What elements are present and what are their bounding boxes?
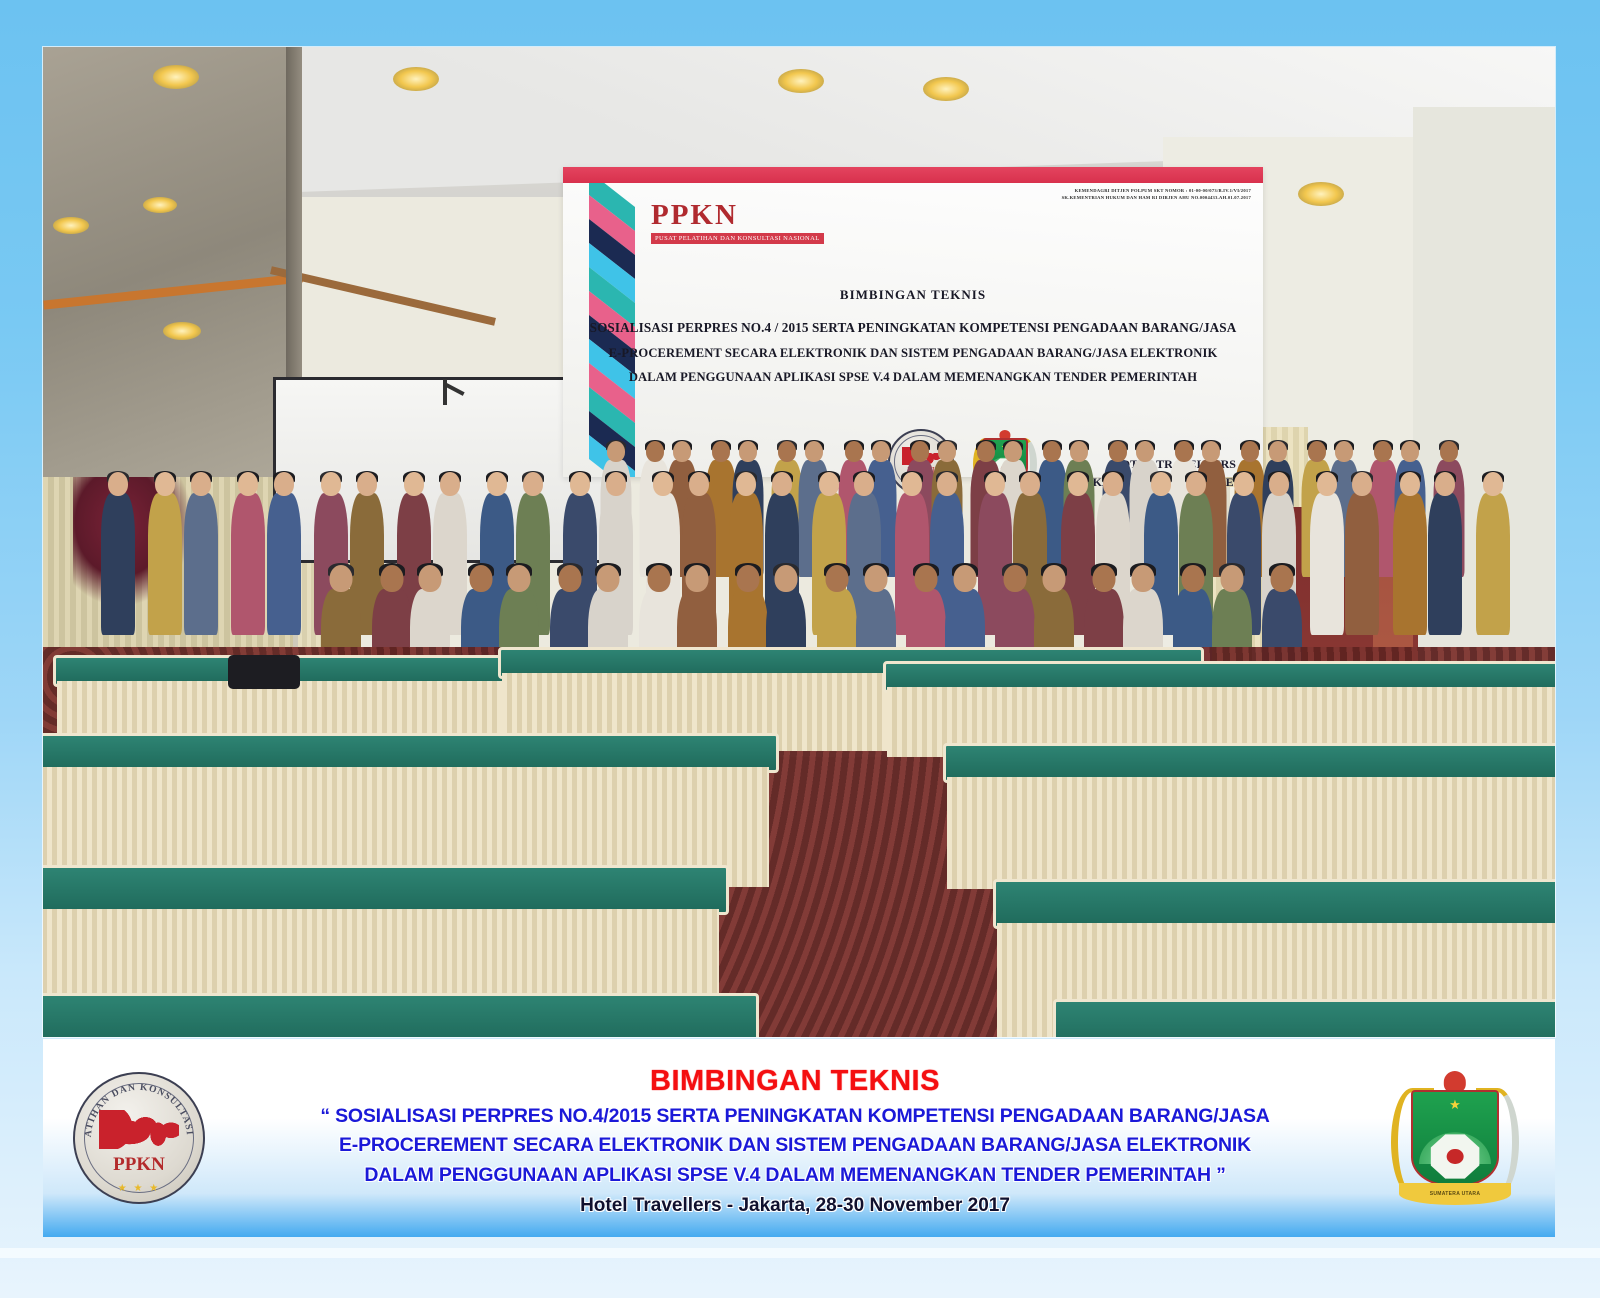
participant-head (985, 472, 1005, 496)
participant-head (736, 565, 759, 592)
participant-head (440, 472, 460, 496)
participant-head (523, 472, 543, 496)
participant-head (825, 565, 848, 592)
participant-head (1092, 565, 1115, 592)
participant-head (819, 472, 839, 496)
participant-head (418, 565, 441, 592)
participant-head (329, 565, 352, 592)
banner-line-1: SOSIALISASI PERPRES NO.4 / 2015 SERTA PE… (563, 315, 1263, 341)
ppkn-seal-icon: PUSAT PELATIHAN DAN KONSULTASI NASIONAL … (73, 1072, 205, 1204)
participant-head (1103, 472, 1123, 496)
emblem-star-icon: ★ (1449, 1097, 1461, 1113)
banner-ppkn-logotype: PPKN PUSAT PELATIHAN DAN KONSULTASI NASI… (651, 201, 824, 244)
participant-head (772, 472, 792, 496)
participant-head (902, 472, 922, 496)
participant-head (864, 565, 887, 592)
participant-head (558, 565, 581, 592)
ppkn-seal-stars: ★ ★ ★ (75, 1183, 203, 1194)
participant-head (689, 472, 709, 496)
participant-head (570, 472, 590, 496)
participant-head (647, 565, 670, 592)
caption-title: BIMBINGAN TEKNIS (205, 1065, 1385, 1098)
svg-text:PUSAT PELATIHAN DAN KONSULTASI: PUSAT PELATIHAN DAN KONSULTASI NASIONAL (75, 1074, 195, 1139)
emblem-shield-icon: ★ (1411, 1090, 1499, 1186)
caption-venue: Hotel Travellers - Jakarta, 28-30 Novemb… (205, 1195, 1385, 1217)
participant-head (238, 472, 258, 496)
participant-head (380, 565, 403, 592)
banner-legal-line-1: KEMENDAGRI DITJEN POLPUM SKT NOMOR : 01-… (1062, 187, 1251, 194)
participant-head (1269, 472, 1289, 496)
participant-head (1020, 472, 1040, 496)
participant-head (914, 565, 937, 592)
participant-head (1220, 565, 1243, 592)
banner-heading: BIMBINGAN TEKNIS (563, 287, 1263, 303)
participant-head (1151, 472, 1171, 496)
frame-divider (0, 1248, 1600, 1258)
sumatera-utara-emblem-icon: ★ SUMATERA UTARA (1385, 1068, 1525, 1208)
banquet-hall-foreground (43, 647, 1555, 1037)
caption-line-2: E-PROCEREMENT SECARA ELEKTRONIK DAN SIST… (205, 1131, 1385, 1161)
handbag-on-table (228, 655, 300, 689)
caption-text-block: BIMBINGAN TEKNIS “ SOSIALISASI PERPRES N… (205, 1059, 1385, 1218)
caption-logo-left: PUSAT PELATIHAN DAN KONSULTASI NASIONAL … (73, 1072, 205, 1204)
participant-head (953, 565, 976, 592)
emblem-octagon-icon (1431, 1134, 1480, 1178)
participant-head (404, 472, 424, 496)
participant-head (774, 565, 797, 592)
ceiling-downlight-icon (923, 77, 969, 101)
participant-head (1181, 565, 1204, 592)
participant-head (1234, 472, 1254, 496)
participant-head (1352, 472, 1372, 496)
banner-line-3: DALAM PENGGUNAAN APLIKASI SPSE V.4 DALAM… (563, 365, 1263, 390)
ceiling-downlight-icon (778, 69, 824, 93)
participant-head (606, 472, 626, 496)
participant-head (854, 472, 874, 496)
poster-frame: PPKN PUSAT PELATIHAN DAN KONSULTASI NASI… (0, 0, 1600, 1298)
participant-head (1400, 472, 1420, 496)
participant-head (685, 565, 708, 592)
participant-head (1186, 472, 1206, 496)
participant-head (487, 472, 507, 496)
participant-head (596, 565, 619, 592)
participant-head (1483, 472, 1503, 496)
participant-head (1042, 565, 1065, 592)
event-group-photo: PPKN PUSAT PELATIHAN DAN KONSULTASI NASI… (43, 47, 1555, 1037)
banner-text-block: BIMBINGAN TEKNIS SOSIALISASI PERPRES NO.… (563, 287, 1263, 390)
participant-head (736, 472, 756, 496)
participant-head (191, 472, 211, 496)
banner-ppkn-wordmark: PPKN (651, 201, 824, 230)
participant-head (1270, 565, 1293, 592)
participant-head (274, 472, 294, 496)
participant-head (1003, 565, 1026, 592)
caption-logo-right: ★ SUMATERA UTARA (1385, 1068, 1525, 1208)
caption-line-1: “ SOSIALISASI PERPRES NO.4/2015 SERTA PE… (205, 1102, 1385, 1132)
banner-red-top-bar (563, 167, 1263, 183)
ceiling-downlight-icon (1298, 182, 1344, 206)
participant-head (357, 472, 377, 496)
banner-ppkn-tagline: PUSAT PELATIHAN DAN KONSULTASI NASIONAL (651, 233, 824, 244)
participant-head (507, 565, 530, 592)
ceiling-downlight-icon (143, 197, 177, 213)
caption-line-3: DALAM PENGGUNAAN APLIKASI SPSE V.4 DALAM… (205, 1161, 1385, 1191)
ceiling-downlight-icon (393, 67, 439, 91)
ceiling-downlight-icon (163, 322, 201, 340)
participant-head (1068, 472, 1088, 496)
participant-head (653, 472, 673, 496)
participant-head (469, 565, 492, 592)
participant-head (937, 472, 957, 496)
banner-legal-notice: KEMENDAGRI DITJEN POLPUM SKT NOMOR : 01-… (1062, 187, 1251, 202)
participant-head (1435, 472, 1455, 496)
participant-head (1317, 472, 1337, 496)
ceiling-downlight-icon (53, 217, 89, 234)
participant-head (321, 472, 341, 496)
caption-panel: PUSAT PELATIHAN DAN KONSULTASI NASIONAL … (43, 1039, 1555, 1237)
emblem-ribbon-text: SUMATERA UTARA (1399, 1183, 1511, 1205)
ceiling-downlight-icon (153, 65, 199, 89)
participant-head (1131, 565, 1154, 592)
participant-head (108, 472, 128, 496)
participant-head (155, 472, 175, 496)
banner-line-2: E-PROCEREMENT SECARA ELEKTRONIK DAN SIST… (563, 341, 1263, 366)
banner-legal-line-2: SK.KEMENTRIAN HUKUM DAN HAM RI DIRJEN AH… (1062, 194, 1251, 201)
